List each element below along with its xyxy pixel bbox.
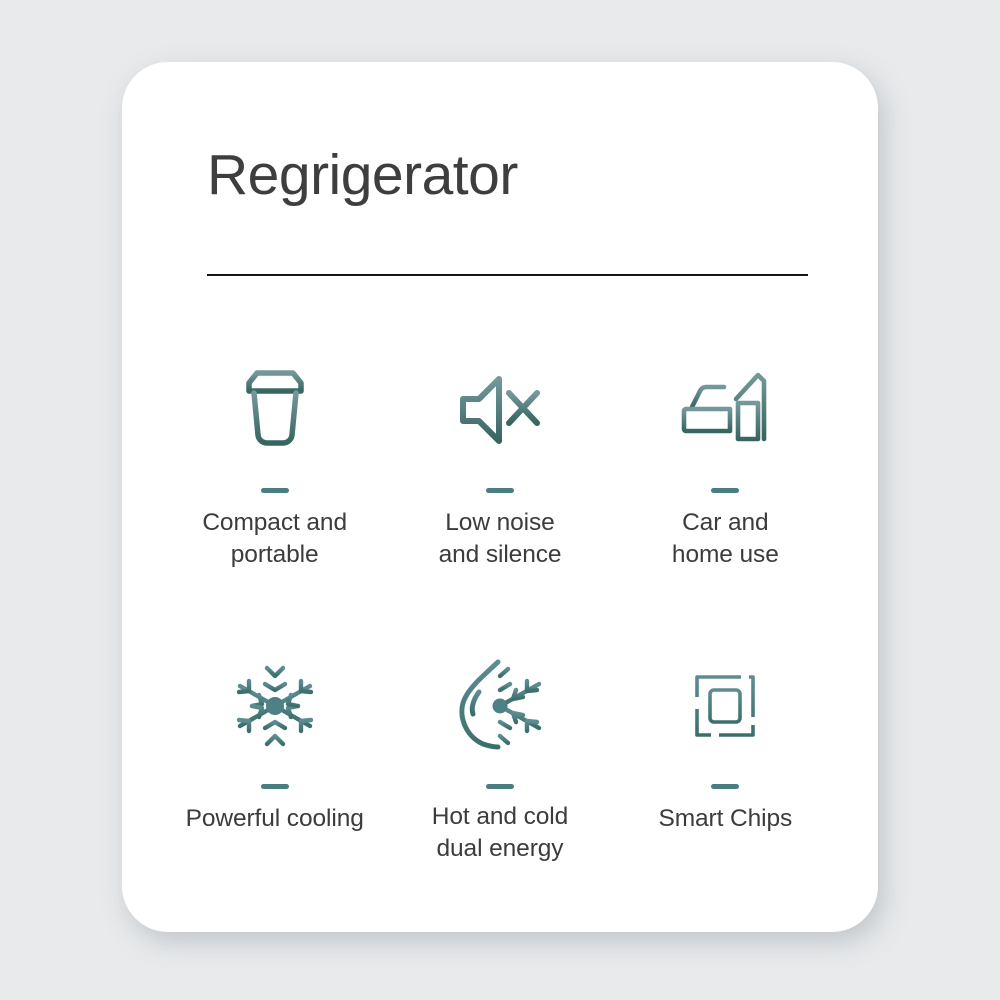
feature-item: Low noise and silence: [387, 362, 612, 652]
feature-item: Powerful cooling: [162, 652, 387, 942]
feature-item: Compact and portable: [162, 362, 387, 652]
feature-item: Car and home use: [613, 362, 838, 652]
title-divider: [207, 274, 808, 276]
flame-snowflake-icon: [453, 652, 547, 760]
feature-label: Powerful cooling: [186, 803, 364, 835]
feature-accent-dash: [486, 488, 514, 493]
feature-label: Smart Chips: [658, 803, 792, 835]
car-and-house-icon: [680, 362, 770, 458]
feature-label: Low noise and silence: [439, 507, 562, 571]
feature-accent-dash: [486, 784, 514, 789]
feature-label: Car and home use: [672, 507, 779, 571]
feature-item: Hot and cold dual energy: [387, 652, 612, 942]
feature-label: Compact and portable: [202, 507, 347, 571]
microchip-icon: [677, 652, 773, 760]
page-title: Regrigerator: [207, 147, 518, 204]
feature-accent-dash: [711, 488, 739, 493]
feature-grid: Compact and portable Low noise and sile: [162, 362, 838, 942]
muted-speaker-icon: [457, 362, 543, 458]
feature-label: Hot and cold dual energy: [432, 801, 568, 865]
snowflake-icon: [230, 652, 320, 760]
product-feature-card: Regrigerator Compact and portable: [122, 62, 878, 932]
feature-accent-dash: [711, 784, 739, 789]
feature-accent-dash: [261, 488, 289, 493]
feature-accent-dash: [261, 784, 289, 789]
coffee-cup-icon: [236, 362, 314, 458]
feature-item: Smart Chips: [613, 652, 838, 942]
